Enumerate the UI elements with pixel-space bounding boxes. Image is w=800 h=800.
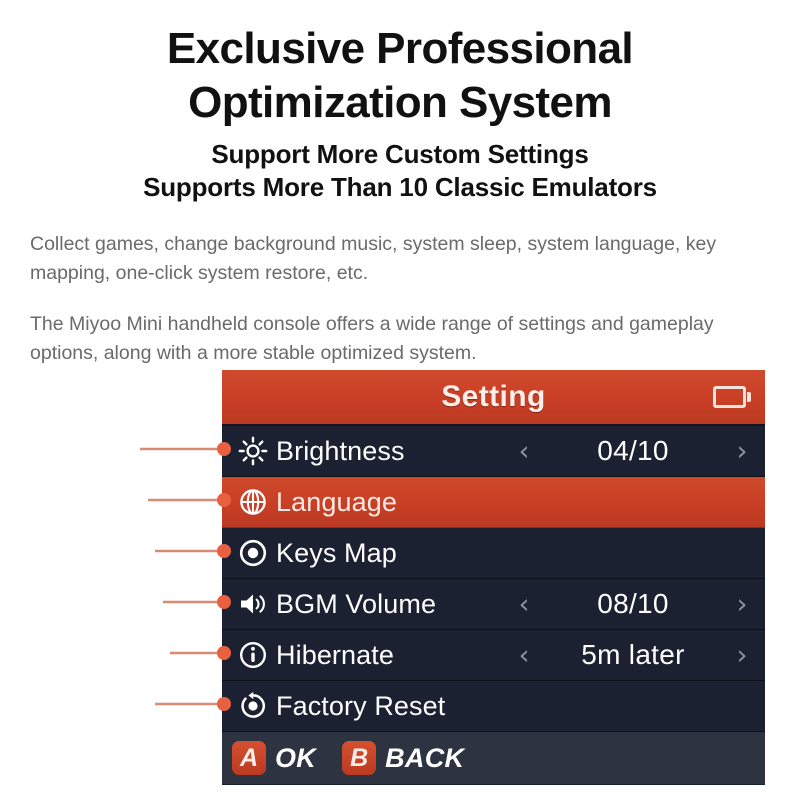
page-title: Setting xyxy=(441,380,545,414)
page-headline: Exclusive Professional Optimization Syst… xyxy=(0,0,800,130)
chevron-right-icon[interactable]: › xyxy=(727,438,757,465)
settings-row-label: BGM Volume xyxy=(276,589,436,620)
subheadline-line-2: Supports More Than 10 Classic Emulators xyxy=(0,171,800,204)
brightness-icon xyxy=(230,436,276,466)
subheadline-line-1: Support More Custom Settings xyxy=(0,138,800,171)
settings-row-value: 5m later xyxy=(539,639,727,671)
settings-row-label: Language xyxy=(276,487,397,518)
settings-row-factory-reset[interactable]: Factory Reset xyxy=(222,681,765,732)
settings-row-value: 08/10 xyxy=(539,588,727,620)
settings-row-hibernate[interactable]: Hibernate ‹ 5m later › xyxy=(222,630,765,681)
button-hint-bar: A OK B BACK xyxy=(222,732,765,784)
brightness-stepper[interactable]: ‹ 04/10 › xyxy=(509,435,765,467)
settings-row-label: Brightness xyxy=(276,436,405,467)
speaker-icon xyxy=(230,589,276,619)
info-icon xyxy=(230,640,276,670)
button-a-badge: A xyxy=(232,741,266,775)
settings-row-label: Factory Reset xyxy=(276,691,445,722)
button-b-label: BACK xyxy=(385,743,464,774)
settings-row-bgm-volume[interactable]: BGM Volume ‹ 08/10 › xyxy=(222,579,765,630)
settings-row-label: Hibernate xyxy=(276,640,394,671)
hint-a-ok[interactable]: A OK xyxy=(232,741,316,775)
battery-icon xyxy=(713,386,751,408)
settings-row-keys-map[interactable]: Keys Map xyxy=(222,528,765,579)
chevron-left-icon[interactable]: ‹ xyxy=(509,438,539,465)
chevron-left-icon[interactable]: ‹ xyxy=(509,591,539,618)
headline-line-1: Exclusive Professional xyxy=(0,22,800,76)
chevron-right-icon[interactable]: › xyxy=(727,642,757,669)
body-paragraph-1: Collect games, change background music, … xyxy=(0,230,800,288)
settings-row-language[interactable]: Language xyxy=(222,477,765,528)
hibernate-stepper[interactable]: ‹ 5m later › xyxy=(509,639,765,671)
globe-icon xyxy=(230,487,276,517)
button-b-badge: B xyxy=(342,741,376,775)
device-settings-screen: Setting Brightness xyxy=(222,370,765,785)
page-subheadline: Support More Custom Settings Supports Mo… xyxy=(0,138,800,204)
settings-row-brightness[interactable]: Brightness ‹ 04/10 › xyxy=(222,426,765,477)
chevron-right-icon[interactable]: › xyxy=(727,591,757,618)
bgm-volume-stepper[interactable]: ‹ 08/10 › xyxy=(509,588,765,620)
settings-header-bar: Setting xyxy=(222,370,765,426)
chevron-left-icon[interactable]: ‹ xyxy=(509,642,539,669)
reset-icon xyxy=(230,691,276,721)
target-icon xyxy=(230,538,276,568)
button-a-label: OK xyxy=(275,743,316,774)
body-paragraph-2: The Miyoo Mini handheld console offers a… xyxy=(0,310,800,368)
settings-row-label: Keys Map xyxy=(276,538,397,569)
headline-line-2: Optimization System xyxy=(0,76,800,130)
settings-row-value: 04/10 xyxy=(539,435,727,467)
hint-b-back[interactable]: B BACK xyxy=(342,741,464,775)
